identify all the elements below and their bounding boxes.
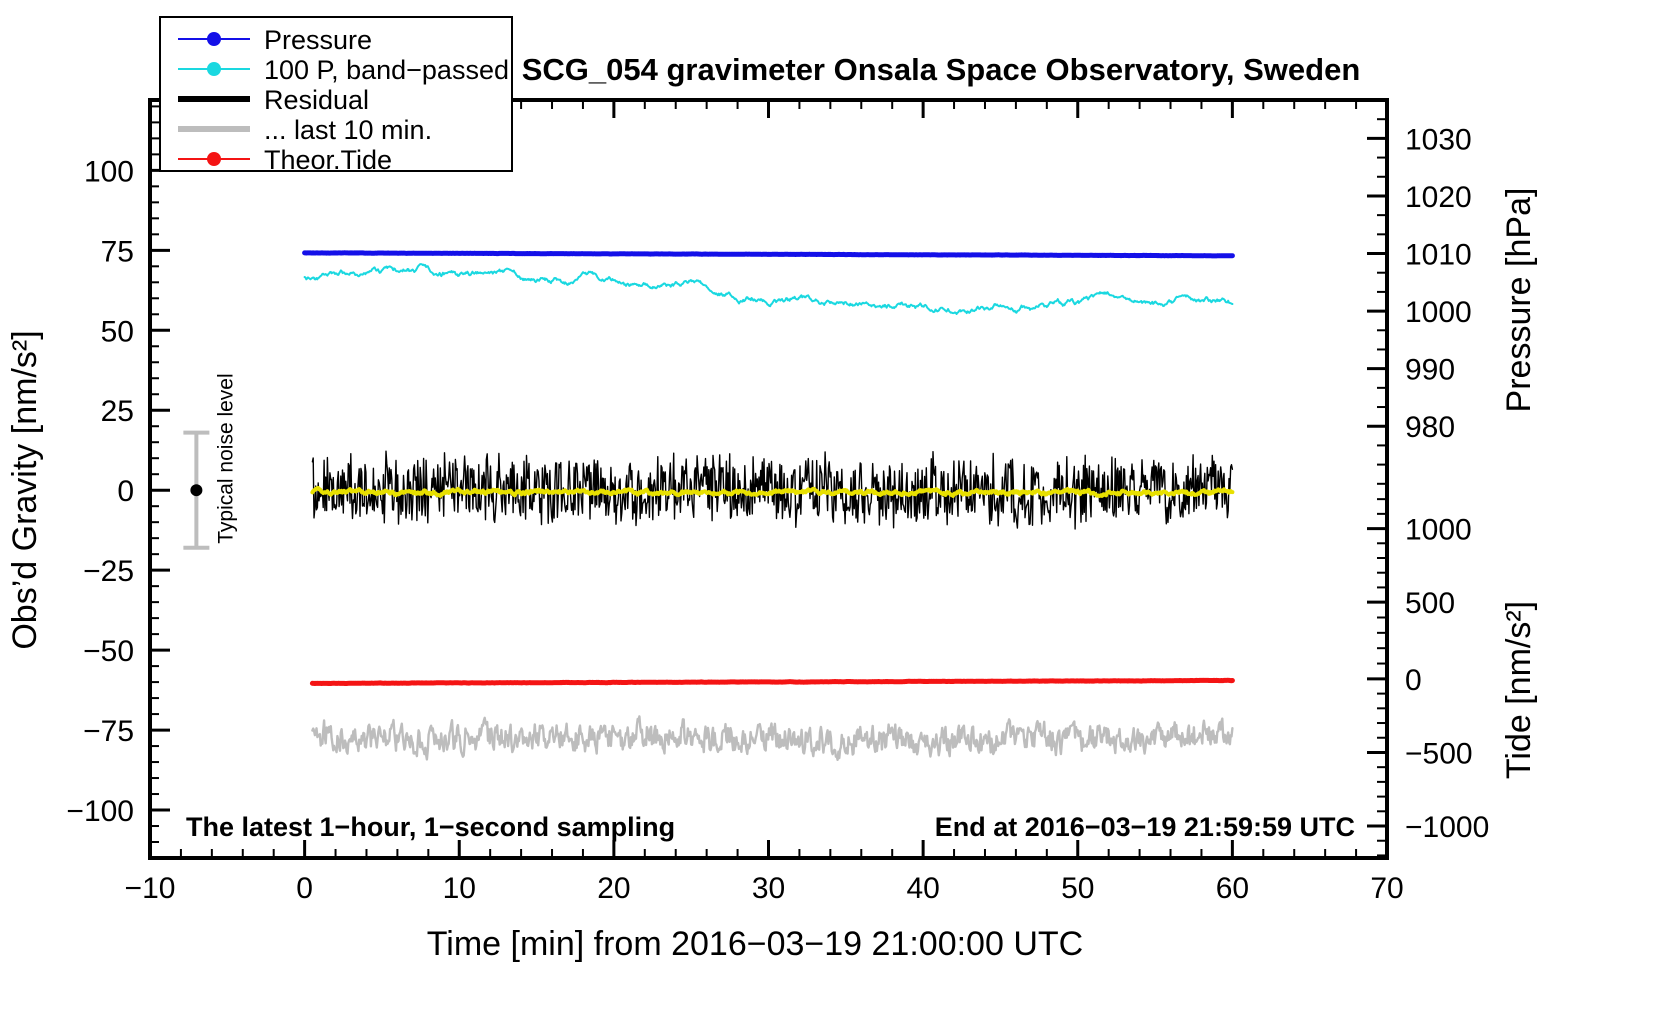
legend-swatch-marker [207, 152, 221, 166]
x-tick-label: 70 [1370, 872, 1403, 905]
page-title: SCG_054 gravimeter Onsala Space Observat… [522, 52, 1361, 87]
series-line [305, 253, 1233, 256]
y-tick-label: −100 [66, 795, 134, 828]
pressure-tick-label: 1030 [1405, 123, 1472, 156]
legend-item-label: 100 P, band−passed [264, 55, 509, 85]
legend-item-label: Theor.Tide [264, 145, 392, 175]
y-tick-label: 75 [101, 235, 134, 268]
x-tick-label: 50 [1061, 872, 1094, 905]
x-tick-label: −10 [125, 872, 176, 905]
y-tick-label: −50 [83, 635, 134, 668]
tide-tick-label: 0 [1405, 664, 1422, 697]
tide-tick-label: 1000 [1405, 514, 1472, 547]
tide-tick-label: −1000 [1405, 811, 1489, 844]
tide-axis-label: Tide [nm/s²] [1500, 601, 1538, 779]
pressure-tick-label: 990 [1405, 354, 1455, 387]
x-tick-label: 30 [752, 872, 785, 905]
x-tick-label: 60 [1216, 872, 1249, 905]
pressure-tick-label: 1020 [1405, 181, 1472, 214]
series-line [312, 680, 1232, 683]
y-tick-label: 100 [84, 155, 134, 188]
y-tick-label: 0 [117, 475, 134, 508]
end-time-note: End at 2016−03−19 21:59:59 UTC [935, 812, 1355, 842]
y-axis-label: Obs’d Gravity [nm/s²] [6, 330, 44, 649]
x-tick-label: 20 [597, 872, 630, 905]
gravimeter-chart: SCG_054 gravimeter Onsala Space Observat… [0, 0, 1660, 1020]
y-tick-label: 25 [101, 395, 134, 428]
x-axis-label: Time [min] from 2016−03−19 21:00:00 UTC [427, 925, 1083, 963]
noise-center-point [190, 484, 202, 496]
pressure-tick-label: 1000 [1405, 296, 1472, 329]
pressure-tick-label: 1010 [1405, 239, 1472, 272]
pressure-axis-label: Pressure [hPa] [1500, 188, 1538, 413]
noise-level-label: Typical noise level [214, 373, 237, 543]
y-tick-label: −75 [83, 715, 134, 748]
chart-page: SCG_054 gravimeter Onsala Space Observat… [0, 0, 1660, 1020]
pressure-tick-label: 980 [1405, 411, 1455, 444]
legend-swatch-marker [207, 62, 221, 76]
y-tick-label: −25 [83, 555, 134, 588]
legend-item-label: Residual [264, 85, 369, 115]
x-tick-label: 10 [443, 872, 476, 905]
legend[interactable]: Pressure100 P, band−passedResidual... la… [160, 17, 512, 175]
legend-item-label: ... last 10 min. [264, 115, 432, 145]
legend-item-label: Pressure [264, 25, 372, 55]
tide-tick-label: −500 [1405, 737, 1473, 770]
y-tick-label: 50 [101, 315, 134, 348]
x-tick-label: 0 [296, 872, 313, 905]
legend-swatch-marker [207, 32, 221, 46]
sampling-note: The latest 1−hour, 1−second sampling [186, 812, 675, 842]
x-tick-label: 40 [906, 872, 939, 905]
tide-tick-label: 500 [1405, 587, 1455, 620]
